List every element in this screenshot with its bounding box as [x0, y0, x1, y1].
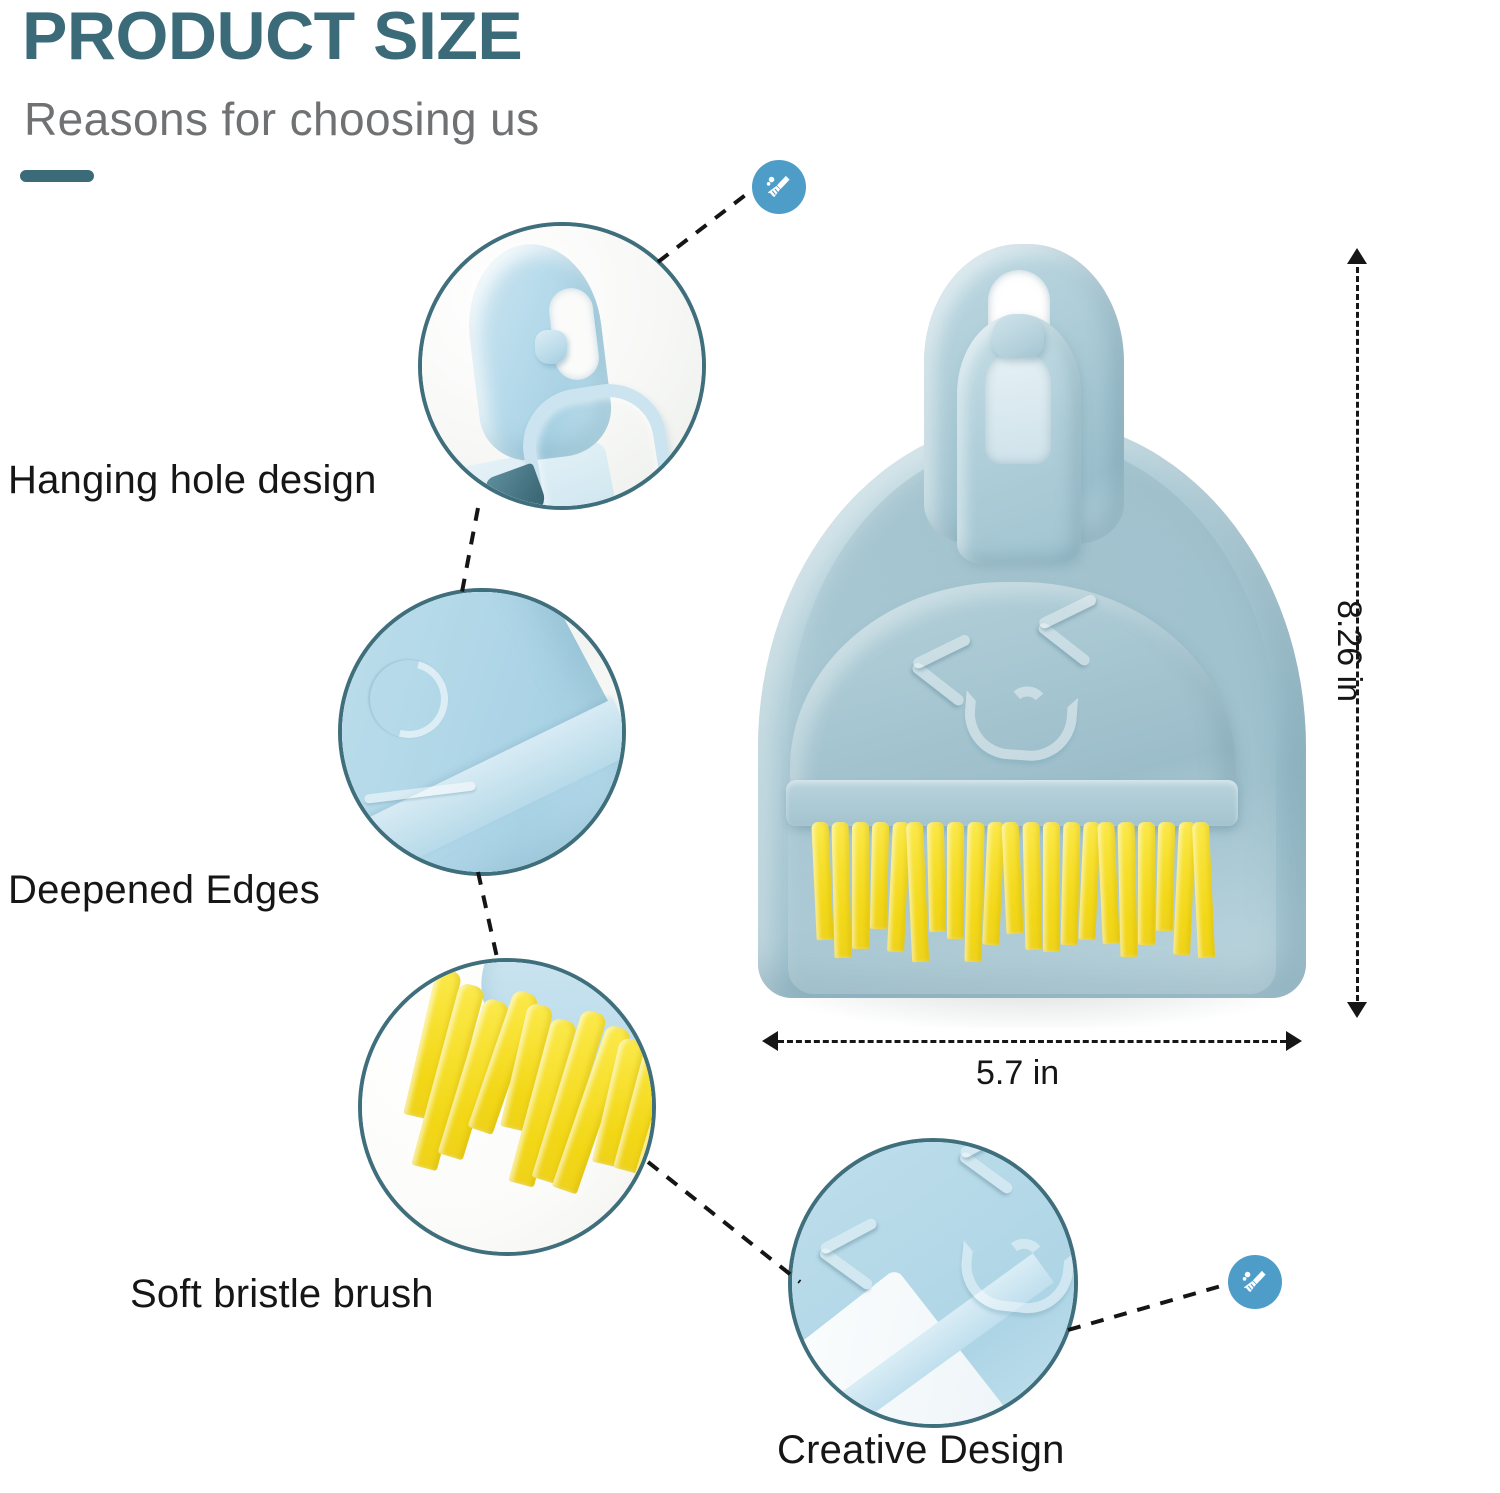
broom-badge-bottom: [1228, 1255, 1282, 1309]
broom-icon: [762, 170, 796, 204]
bristle-tuft: [870, 822, 889, 929]
detail-circle-soft-bristle: [358, 958, 656, 1256]
broom-badge-top: [752, 160, 806, 214]
bristle-tuft: [1078, 822, 1100, 941]
bristle-tuft: [1117, 822, 1137, 957]
infographic-canvas: PRODUCT SIZE Reasons for choosing us: [0, 0, 1500, 1493]
arrow-up-icon: [1347, 248, 1367, 264]
hanging-hole-photo: [422, 226, 702, 506]
feature-label-hanging-hole: Hanging hole design: [8, 458, 377, 503]
accent-rule: [20, 170, 94, 182]
bristle-tuft: [1022, 822, 1042, 951]
bristle-tuft: [1002, 822, 1024, 935]
width-dimension-label: 5.7 in: [976, 1054, 1059, 1093]
bristle-tuft: [906, 822, 929, 962]
bristle-tuft: [1192, 822, 1215, 959]
embossed-eye-right-icon: [1034, 598, 1126, 690]
bristle-tuft: [927, 822, 946, 932]
bristle-tuft: [832, 822, 852, 958]
product-hero-image: [752, 242, 1312, 1032]
arrow-left-icon: [762, 1031, 778, 1051]
clip-knob: [535, 330, 567, 364]
height-dimension-label: 8.26 in: [1329, 600, 1368, 702]
brush-clip-knob: [992, 314, 1044, 358]
embossed-eye-left-icon: [817, 1223, 907, 1313]
embossed-eye-right-icon: [957, 1138, 1047, 1217]
broom-icon: [1238, 1265, 1272, 1299]
detail-circle-deepened-edges: [338, 588, 626, 876]
bristle-tuft: [1060, 822, 1080, 945]
brush-slot: [985, 350, 1051, 464]
creative-design-photo: [792, 1142, 1074, 1424]
width-dimension-line: [778, 1040, 1286, 1043]
arrow-down-icon: [1347, 1002, 1367, 1018]
feature-label-creative-design: Creative Design: [777, 1428, 1065, 1473]
page-title: PRODUCT SIZE: [22, 2, 522, 70]
detail-circle-creative-design: [788, 1138, 1078, 1428]
bristle-tuft: [1156, 822, 1175, 932]
brush-bristles: [814, 822, 1214, 982]
bristle-tuft: [1138, 822, 1155, 945]
connector-circle1-to-circle2: [462, 508, 478, 592]
deepened-edges-photo: [342, 592, 622, 872]
arrow-right-icon: [1286, 1031, 1302, 1051]
bristle-tuft: [947, 822, 964, 939]
page-subtitle: Reasons for choosing us: [24, 96, 540, 142]
bristle-photo: [362, 962, 652, 1252]
bristle-tuft: [1097, 822, 1120, 945]
detail-circle-hanging-hole: [418, 222, 706, 510]
feature-label-deepened-edges: Deepened Edges: [8, 868, 320, 913]
brush-plate-lip: [786, 780, 1238, 826]
connector-circle2-to-circle3: [478, 872, 498, 962]
bristle-tuft: [811, 822, 833, 941]
feature-label-soft-bristle: Soft bristle brush: [130, 1272, 434, 1317]
bristle-tuft: [852, 822, 869, 949]
connector-circle4-to-badge: [1068, 1284, 1228, 1330]
bristle-tuft: [1043, 822, 1060, 952]
connector-circle3-to-circle4: [648, 1162, 800, 1282]
